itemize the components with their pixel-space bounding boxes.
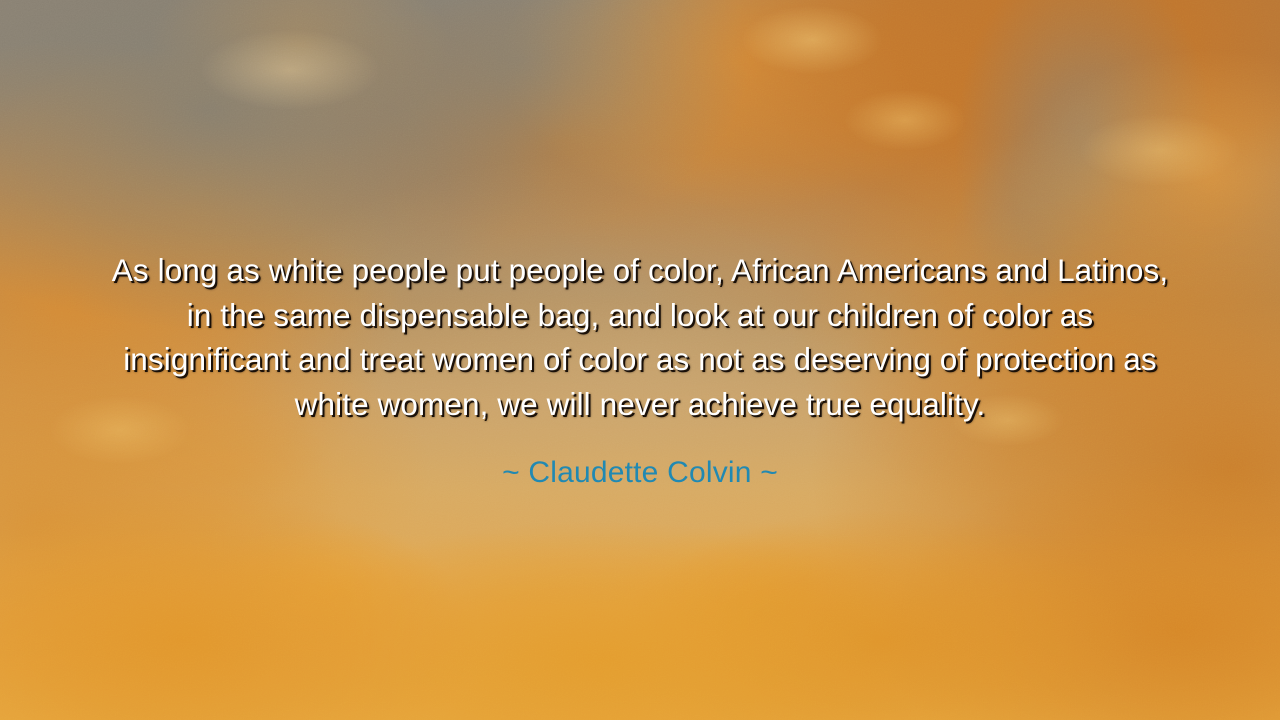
quote-card: As long as white people put people of co…: [0, 0, 1280, 720]
quote-text: As long as white people put people of co…: [102, 248, 1178, 426]
quote-content: As long as white people put people of co…: [0, 248, 1280, 491]
quote-attribution: ~ Claudette Colvin ~: [0, 455, 1280, 491]
